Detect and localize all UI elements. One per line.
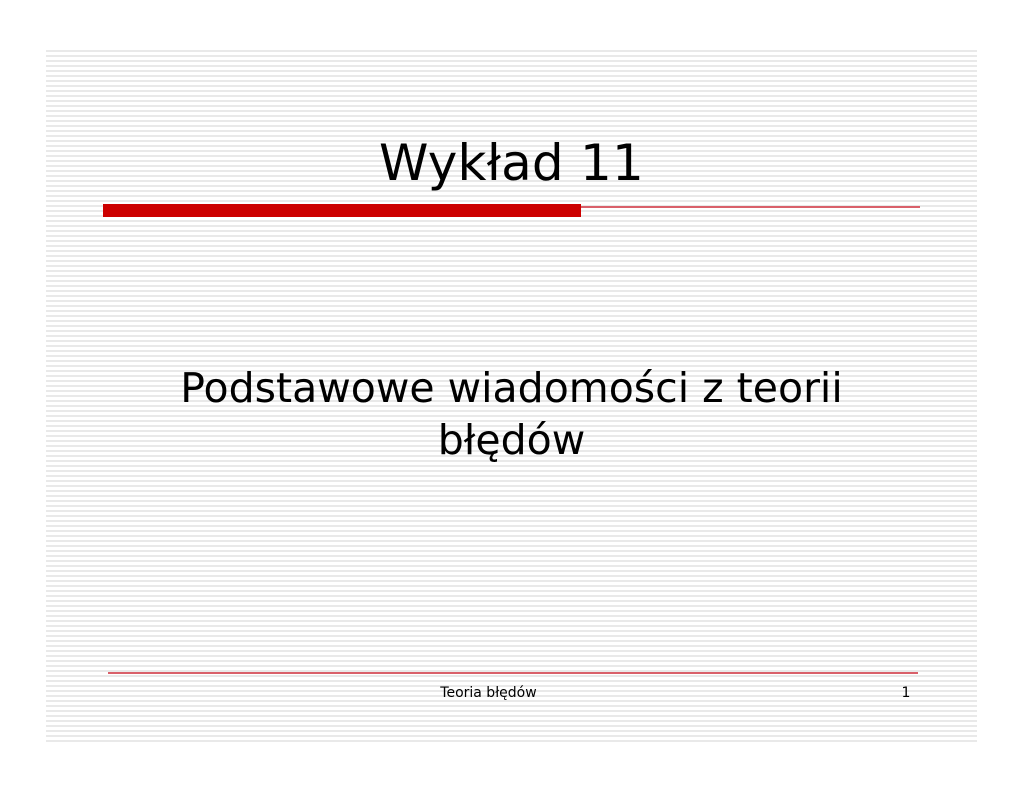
presentation-slide: Wykład 11 Podstawowe wiadomości z teorii… <box>46 47 977 745</box>
title-block: Wykład 11 <box>46 134 977 192</box>
slide-canvas: Wykład 11 Podstawowe wiadomości z teorii… <box>0 0 1024 791</box>
divider-thick-bar <box>103 204 581 217</box>
subtitle-line-2: błędów <box>86 414 937 466</box>
footer-page-number: 1 <box>894 683 918 703</box>
footer-text: Teoria błędów <box>46 683 977 703</box>
slide-title: Wykład 11 <box>379 134 644 192</box>
subtitle-block: Podstawowe wiadomości z teorii błędów <box>86 362 937 466</box>
subtitle-line-1: Podstawowe wiadomości z teorii <box>86 362 937 414</box>
title-divider <box>103 204 920 218</box>
footer-rule <box>108 672 918 674</box>
